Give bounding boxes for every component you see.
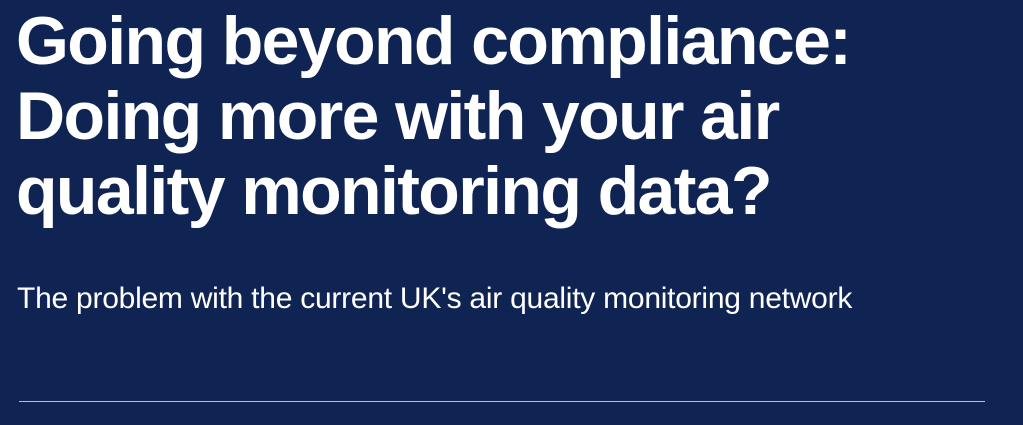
page-title: Going beyond compliance: Doing more with… xyxy=(16,4,946,229)
hero-banner: Going beyond compliance: Doing more with… xyxy=(0,0,1023,425)
divider xyxy=(19,401,985,402)
page-subtitle: The problem with the current UK's air qu… xyxy=(17,281,897,317)
